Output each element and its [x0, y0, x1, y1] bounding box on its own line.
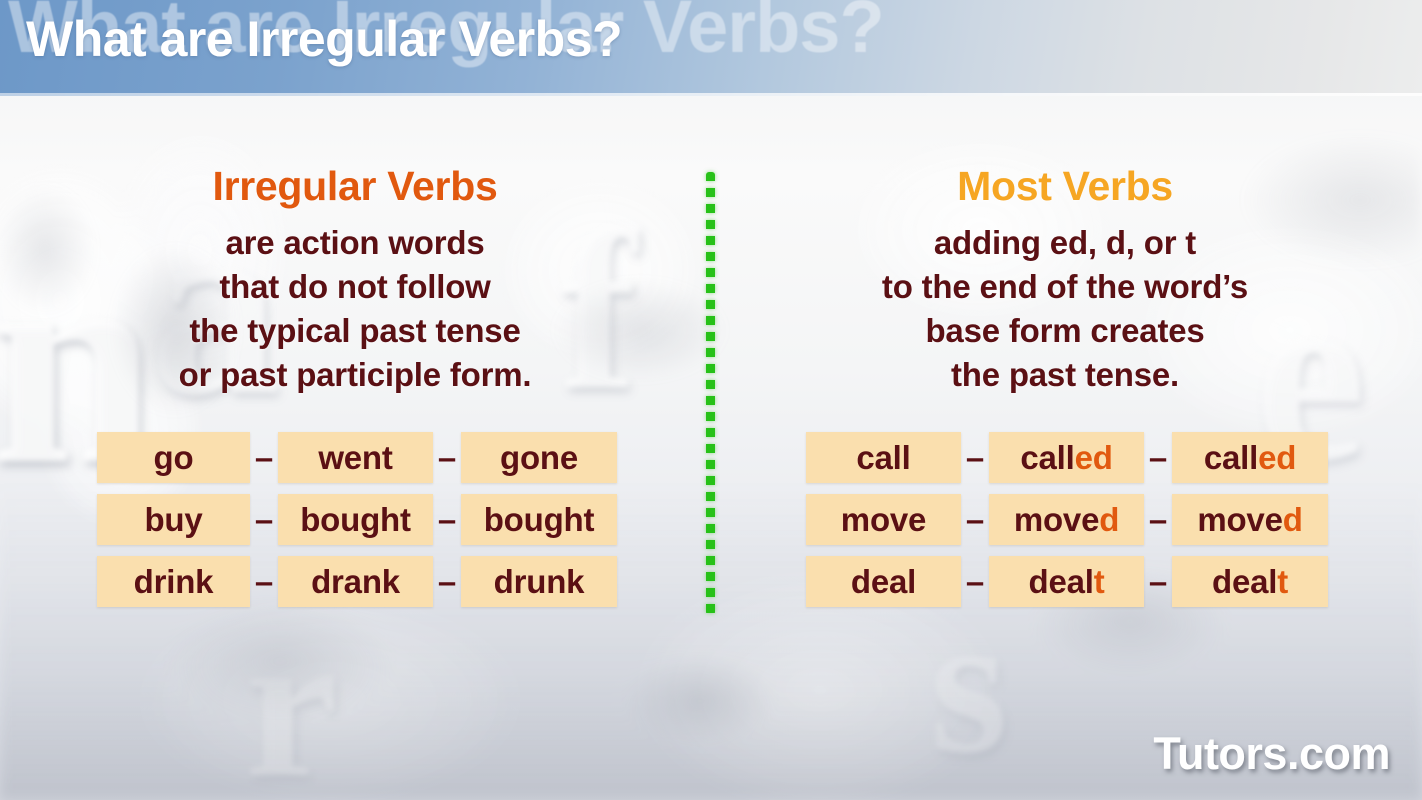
- verb-stem: went: [318, 439, 392, 476]
- description-line: adding ed, d, or t: [755, 221, 1375, 265]
- verb-suffix: t: [1094, 563, 1105, 600]
- verb-cell-participle: called: [1172, 432, 1328, 483]
- verb-cell-participle: drunk: [461, 556, 617, 607]
- description-line: the typical past tense: [45, 309, 665, 353]
- column-description-right: adding ed, d, or t to the end of the wor…: [755, 221, 1375, 397]
- verb-cell-base: call: [806, 432, 961, 483]
- verb-separator-dash: –: [433, 432, 461, 483]
- slide-root: n a f e r s What are Irregular Verbs? Wh…: [0, 0, 1422, 800]
- slide-header: What are Irregular Verbs? What are Irreg…: [0, 0, 1422, 96]
- column-description-left: are action words that do not follow the …: [45, 221, 665, 397]
- verb-cell-participle: bought: [461, 494, 617, 545]
- verb-stem: drank: [311, 563, 400, 600]
- verb-cell-past: dealt: [989, 556, 1144, 607]
- column-most-verbs: Most Verbs adding ed, d, or t to the end…: [755, 164, 1375, 397]
- column-divider: [706, 172, 715, 615]
- column-heading-right: Most Verbs: [755, 164, 1375, 209]
- verb-cell-past: bought: [278, 494, 433, 545]
- verb-stem: deal: [1028, 563, 1093, 600]
- brand-logo: Tutors.com: [1153, 728, 1390, 780]
- verb-cell-past: called: [989, 432, 1144, 483]
- description-line: are action words: [45, 221, 665, 265]
- verb-separator-dash: –: [433, 556, 461, 607]
- verb-separator-dash: –: [1144, 494, 1172, 545]
- verb-cell-past: moved: [989, 494, 1144, 545]
- verb-separator-dash: –: [1144, 432, 1172, 483]
- description-line: base form creates: [755, 309, 1375, 353]
- verb-stem: move: [1197, 501, 1282, 538]
- verb-stem: bought: [484, 501, 595, 538]
- verb-stem: move: [1014, 501, 1099, 538]
- verb-cell-base: go: [97, 432, 250, 483]
- verb-suffix: t: [1277, 563, 1288, 600]
- verb-cell-participle: moved: [1172, 494, 1328, 545]
- verb-table-regular: call – called – called move – moved – mo…: [806, 432, 1328, 607]
- table-row: move – moved – moved: [806, 494, 1328, 545]
- verb-cell-participle: dealt: [1172, 556, 1328, 607]
- verb-stem: call: [1020, 439, 1074, 476]
- verb-cell-base: buy: [97, 494, 250, 545]
- verb-separator-dash: –: [961, 494, 989, 545]
- verb-suffix: d: [1283, 501, 1303, 538]
- verb-separator-dash: –: [250, 494, 278, 545]
- description-line: or past participle form.: [45, 353, 665, 397]
- verb-cell-base: deal: [806, 556, 961, 607]
- verb-suffix: ed: [1075, 439, 1113, 476]
- verb-suffix: d: [1099, 501, 1119, 538]
- verb-stem: gone: [500, 439, 578, 476]
- table-row: call – called – called: [806, 432, 1328, 483]
- verb-separator-dash: –: [433, 494, 461, 545]
- page-title: What are Irregular Verbs?: [26, 10, 622, 68]
- table-row: buy – bought – bought: [97, 494, 617, 545]
- verb-table-irregular: go – went – gone buy – bought – bought d…: [97, 432, 617, 607]
- verb-cell-past: went: [278, 432, 433, 483]
- description-line: that do not follow: [45, 265, 665, 309]
- verb-cell-base: drink: [97, 556, 250, 607]
- verb-separator-dash: –: [250, 556, 278, 607]
- verb-cell-base: move: [806, 494, 961, 545]
- table-row: drink – drank – drunk: [97, 556, 617, 607]
- verb-separator-dash: –: [1144, 556, 1172, 607]
- description-line: to the end of the word’s: [755, 265, 1375, 309]
- verb-stem: deal: [1212, 563, 1277, 600]
- table-row: go – went – gone: [97, 432, 617, 483]
- verb-stem: call: [1204, 439, 1258, 476]
- verb-separator-dash: –: [250, 432, 278, 483]
- verb-separator-dash: –: [961, 556, 989, 607]
- verb-stem: drunk: [494, 563, 585, 600]
- column-irregular-verbs: Irregular Verbs are action words that do…: [45, 164, 665, 397]
- verb-cell-participle: gone: [461, 432, 617, 483]
- verb-stem: bought: [300, 501, 411, 538]
- table-row: deal – dealt – dealt: [806, 556, 1328, 607]
- verb-suffix: ed: [1258, 439, 1296, 476]
- description-line: the past tense.: [755, 353, 1375, 397]
- verb-separator-dash: –: [961, 432, 989, 483]
- column-heading-left: Irregular Verbs: [45, 164, 665, 209]
- verb-cell-past: drank: [278, 556, 433, 607]
